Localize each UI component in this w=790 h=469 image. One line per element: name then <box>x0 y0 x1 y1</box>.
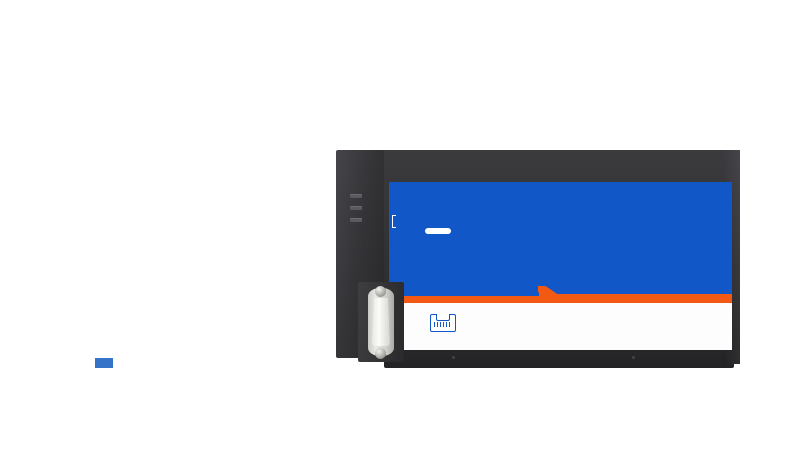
slide-root <box>0 0 790 469</box>
chassis-screw-icon <box>632 356 635 359</box>
accent-stripe-notch <box>389 288 539 296</box>
db9-screw-bottom-icon <box>375 348 386 359</box>
device-model-badge <box>425 228 451 234</box>
chassis-screw-icon <box>452 356 455 359</box>
chassis-vent-slot <box>350 218 362 222</box>
led-bracket-icon <box>392 215 396 228</box>
db9-screw-top-icon <box>375 286 386 297</box>
db9-face <box>372 298 390 346</box>
faceplate-blue <box>389 182 732 298</box>
chassis-vent-slot <box>350 194 362 198</box>
chassis-vent-slot <box>350 206 362 210</box>
device-photo <box>332 142 772 370</box>
rj45-jack[interactable] <box>430 314 456 332</box>
interface-badge <box>95 358 113 368</box>
rj45-contacts <box>434 322 452 327</box>
rj45-latch-slot <box>436 314 450 321</box>
